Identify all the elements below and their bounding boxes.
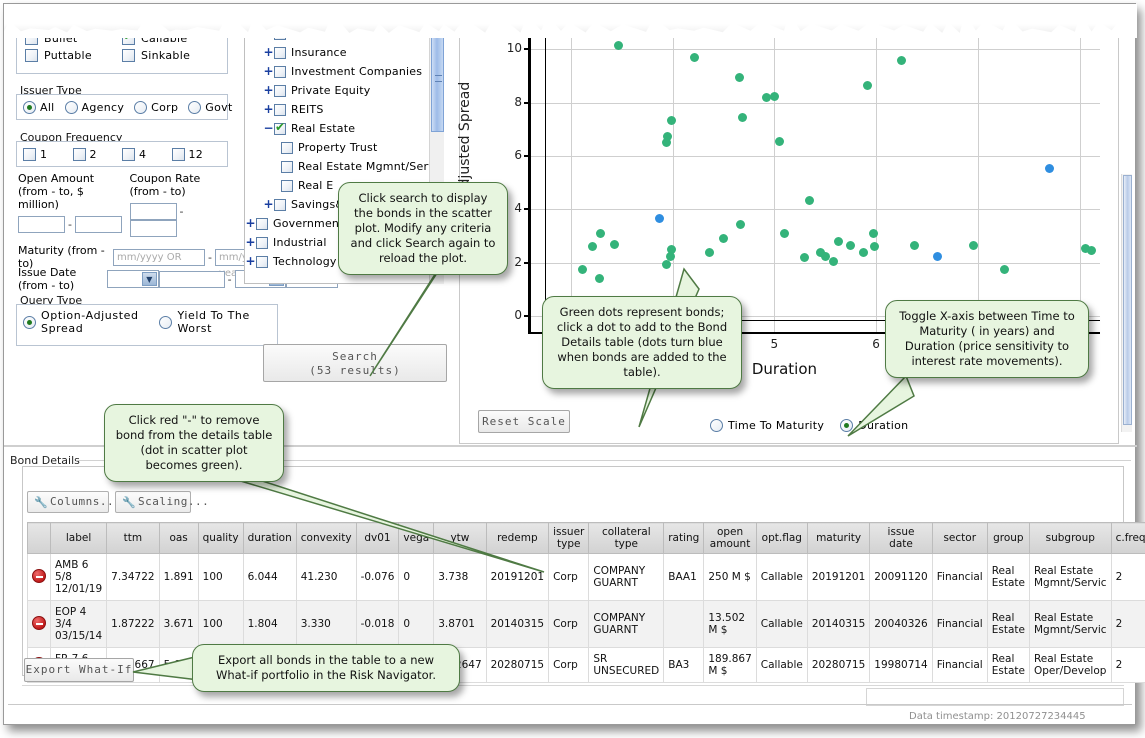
tree-scrollbar-thumb[interactable] [431, 32, 444, 132]
table-column-header[interactable]: issue date [870, 523, 932, 554]
table-cell-subgroup: Real Estate Oper/Develop [1029, 648, 1111, 683]
table-cell-subgroup: Real Estate Mgmnt/Servic [1029, 601, 1111, 648]
issue-date-dash: - [225, 273, 235, 286]
tree-checkbox[interactable] [274, 66, 286, 78]
scatter-point-selected[interactable] [655, 214, 664, 223]
scatter-point[interactable] [829, 257, 838, 266]
table-cell-rating: BAA1 [664, 554, 704, 601]
tree-node-insurance[interactable]: + Insurance [245, 43, 443, 62]
columns-button[interactable]: 🔧 Columns... [27, 491, 109, 513]
checkbox-box-freq-1[interactable] [23, 148, 36, 161]
radio-issuer-corp[interactable]: Corp [134, 101, 178, 114]
amount-rate-fields: Open Amount (from - to, $ million) - Cou… [18, 172, 230, 237]
tree-label: Investment Companies [291, 65, 422, 78]
checkbox-puttable[interactable]: Puttable [25, 49, 122, 62]
table-cell-label: EOP 4 3/4 03/15/14 [51, 601, 107, 648]
table-cell-issue-date: 20091120 [870, 554, 932, 601]
scatter-point[interactable] [897, 56, 906, 65]
scatter-point[interactable] [705, 248, 714, 257]
table-cell-subgroup: Real Estate Mgmnt/Servic [1029, 554, 1111, 601]
scatter-point-selected[interactable] [933, 252, 942, 261]
table-cell-rating: BA3 [664, 648, 704, 683]
query-type-radio-group: Option-Adjusted Spread Yield To The Wors… [16, 304, 278, 346]
checkbox-freq-2[interactable]: 2 [73, 148, 123, 161]
y-tick-mark [524, 208, 531, 210]
table-column-header[interactable]: group [987, 523, 1029, 554]
table-cell-redemp: 20140315 [486, 601, 548, 648]
coupon-rate-to-input[interactable] [130, 220, 177, 237]
table-cell-cfreq: 2 [1111, 601, 1145, 648]
coupon-rate-dash: - [177, 205, 187, 218]
scatter-point[interactable] [800, 253, 809, 262]
checkbox-callable[interactable]: Callable [122, 32, 219, 45]
table-column-header[interactable]: c.freq [1111, 523, 1145, 554]
tree-label: REITS [291, 103, 324, 116]
tree-checkbox-checked[interactable] [274, 123, 286, 135]
table-cell-maturity: 20191201 [807, 554, 869, 601]
scrollbar-grip-icon [435, 75, 442, 82]
table-column-header[interactable]: rating [664, 523, 704, 554]
y-tick-mark [524, 102, 531, 104]
radio-dot-oas[interactable] [23, 316, 36, 329]
table-cell-sector: Financial [932, 648, 987, 683]
table-cell-issuer-type: Corp [549, 601, 589, 648]
gridline-vertical [774, 12, 775, 332]
checkbox-box-freq-12[interactable] [172, 148, 185, 161]
gridline-vertical [978, 12, 979, 332]
open-amount-title-line2: (from - to, $ million) [18, 185, 126, 211]
table-column-header[interactable]: collateral type [589, 523, 664, 554]
tree-label: Government [273, 217, 344, 230]
table-cell-collateral-type: SR UNSECURED [589, 648, 664, 683]
y-tick-label: 8 [496, 95, 522, 109]
expander-icon[interactable]: + [245, 256, 256, 267]
scatter-point[interactable] [719, 234, 728, 243]
coupon-rate-from-input[interactable] [130, 203, 177, 220]
table-cell-redemp: 20280715 [486, 648, 548, 683]
x-tick-label: 5 [764, 337, 784, 351]
bottom-rule-2 [8, 704, 1132, 705]
table-cell-opt-flag: Callable [756, 554, 807, 601]
checkbox-label-bullet: Bullet [44, 32, 78, 45]
tree-label: Private Equity [291, 84, 370, 97]
maturity-dash: - [205, 251, 215, 264]
tree-checkbox[interactable] [281, 161, 293, 173]
scatter-point[interactable] [738, 113, 747, 122]
scatter-point[interactable] [735, 73, 744, 82]
radio-label-time-to-maturity: Time To Maturity [728, 419, 824, 432]
radio-dot-govt[interactable] [188, 101, 201, 114]
remove-bond-icon[interactable] [32, 616, 46, 630]
collapse-icon[interactable]: − [263, 123, 274, 134]
table-column-header[interactable]: label [51, 523, 107, 554]
checkbox-label-sinkable: Sinkable [141, 49, 190, 62]
table-column-header[interactable]: sector [932, 523, 987, 554]
checkbox-label-freq-2: 2 [90, 148, 97, 161]
radio-dot-time-to-maturity[interactable] [710, 419, 723, 432]
table-cell-vega: 0 [399, 601, 434, 648]
table-cell-ttm: 1.87222 [107, 601, 159, 648]
scatter-point[interactable] [690, 53, 699, 62]
open-amount-to-input[interactable] [75, 216, 122, 233]
checkbox-bullet[interactable]: Bullet [25, 32, 122, 45]
table-column-header[interactable]: opt.flag [756, 523, 807, 554]
tree-node-real-estate[interactable]: − Real Estate [245, 119, 443, 138]
wrench-icon: 🔧 [34, 497, 46, 509]
tree-node-reits[interactable]: + REITS [245, 100, 443, 119]
chevron-down-icon[interactable]: ▼ [142, 272, 157, 286]
tree-checkbox[interactable] [274, 47, 286, 59]
open-amount-from-input[interactable] [18, 216, 65, 233]
radio-label-oas: Option-Adjusted Spread [41, 309, 145, 335]
expander-icon[interactable]: + [263, 199, 274, 210]
scatter-point[interactable] [667, 116, 676, 125]
tree-label: Insurance [291, 46, 347, 59]
radio-dot-all[interactable] [23, 101, 36, 114]
expander-icon[interactable]: + [263, 47, 274, 58]
table-column-header[interactable]: maturity [807, 523, 869, 554]
issue-date-from-input[interactable] [159, 271, 225, 288]
issue-date-from-combo[interactable]: ▼ [107, 270, 159, 288]
callout-tail-toggle [844, 374, 944, 444]
radio-label-agency: Agency [82, 101, 125, 114]
checkbox-freq-4[interactable]: 4 [122, 148, 172, 161]
checkbox-sinkable[interactable]: Sinkable [122, 49, 219, 62]
export-what-if-button[interactable]: Export What-If [24, 658, 134, 682]
open-amount-dash: - [65, 218, 75, 231]
y-tick-mark [524, 48, 531, 50]
remove-bond-icon[interactable] [32, 569, 46, 583]
open-amount-title-line1: Open Amount [18, 172, 126, 185]
plot-scrollbar[interactable] [1121, 174, 1132, 432]
table-column-header[interactable] [28, 523, 51, 554]
scatter-point[interactable] [863, 81, 872, 90]
checkbox-box-sinkable[interactable] [122, 49, 135, 62]
y-tick-mark [524, 155, 531, 157]
checkbox-label-freq-4: 4 [139, 148, 146, 161]
callout-toggle-x: Toggle X-axis between Time to Maturity (… [885, 300, 1089, 378]
plot-scrollbar-thumb[interactable] [1123, 175, 1132, 425]
radio-label-govt: Govt [205, 101, 232, 114]
checkbox-label-freq-1: 1 [40, 148, 47, 161]
coupon-rate-title-line2: (from - to) [130, 185, 230, 198]
table-cell-collateral-type: COMPANY GUARNT [589, 601, 664, 648]
tree-checkbox[interactable] [256, 237, 268, 249]
expander-icon[interactable]: + [245, 237, 256, 248]
checkbox-box-bullet[interactable] [25, 32, 38, 45]
table-cell-open-amount: 13.502 M $ [704, 601, 756, 648]
tree-label: Real E [298, 179, 333, 192]
gridline-horizontal [530, 156, 1100, 157]
table-cell-duration: 1.804 [243, 601, 296, 648]
tree-label: Property Trust [298, 141, 377, 154]
tree-checkbox[interactable] [281, 180, 293, 192]
expander-icon[interactable]: + [263, 104, 274, 115]
tree-checkbox[interactable] [281, 142, 293, 154]
scatter-point[interactable] [1000, 265, 1009, 274]
scatter-point[interactable] [805, 196, 814, 205]
gridline-horizontal [530, 209, 1100, 210]
tree-checkbox[interactable] [274, 199, 286, 211]
checkbox-box-freq-2[interactable] [73, 148, 86, 161]
callout-search: Click search to display the bonds in the… [338, 182, 508, 275]
remove-bond-cell[interactable] [28, 601, 51, 648]
table-cell-ytw: 3.8701 [434, 601, 486, 648]
scatter-point[interactable] [780, 229, 789, 238]
callout-export: Export all bonds in the table to a new W… [192, 644, 460, 692]
tree-label: Diversified Finan Serv [291, 27, 415, 40]
table-cell-collateral-type: COMPANY GUARNT [589, 554, 664, 601]
radio-yield-to-worst[interactable]: Yield To The Worst [159, 309, 257, 335]
columns-button-label: Columns... [50, 495, 121, 508]
data-timestamp: Data timestamp: 20120727234445 [909, 711, 1086, 722]
y-tick-label: 10 [496, 41, 522, 55]
remove-bond-cell[interactable] [28, 554, 51, 601]
x-axis-label: Duration [734, 360, 834, 378]
search-criteria-panel: Bullet Callable Puttable Sinkable Issuer… [16, 22, 238, 382]
checkbox-freq-12[interactable]: 12 [172, 148, 222, 161]
tree-node-property-trust[interactable]: Property Trust [245, 138, 443, 157]
table-cell-opt-flag: Callable [756, 601, 807, 648]
scatter-point[interactable] [846, 241, 855, 250]
radio-dot-agency[interactable] [65, 101, 78, 114]
tree-label: Real Estate [291, 122, 355, 135]
radio-option-adjusted-spread[interactable]: Option-Adjusted Spread [23, 309, 145, 335]
scatter-point[interactable] [869, 229, 878, 238]
tree-checkbox[interactable] [274, 104, 286, 116]
radio-time-to-maturity[interactable]: Time To Maturity [710, 419, 824, 432]
table-cell-rating [664, 601, 704, 648]
scatter-point[interactable] [736, 220, 745, 229]
radio-label-corp: Corp [151, 101, 178, 114]
coupon-rate-title-line1: Coupon Rate [130, 172, 230, 185]
expander-icon[interactable]: + [263, 85, 274, 96]
table-cell-opt-flag: Callable [756, 648, 807, 683]
tree-node-private-equity[interactable]: + Private Equity [245, 81, 443, 100]
table-cell-open-amount: 189.867 M $ [704, 648, 756, 683]
table-row[interactable]: EOP 4 3/4 03/15/141.872223.6711001.8043.… [28, 601, 1145, 648]
tree-node-investment-companies[interactable]: + Investment Companies [245, 62, 443, 81]
table-column-header[interactable]: open amount [704, 523, 756, 554]
scatter-point-selected[interactable] [1045, 164, 1054, 173]
table-cell-group: Real Estate [987, 648, 1029, 683]
table-column-header[interactable]: subgroup [1029, 523, 1111, 554]
issuer-type-radio-group: All Agency Corp Govt [16, 94, 228, 120]
expander-icon[interactable]: + [263, 28, 274, 39]
checkbox-box-callable[interactable] [122, 32, 135, 45]
radio-label-ytw: Yield To The Worst [177, 309, 257, 335]
maturity-from-input[interactable]: mm/yyyy OR year [113, 249, 205, 266]
scatter-point[interactable] [662, 138, 671, 147]
y-tick-label: 6 [496, 148, 522, 162]
table-cell-sector: Financial [932, 554, 987, 601]
table-cell-maturity: 20280715 [807, 648, 869, 683]
table-cell-group: Real Estate [987, 554, 1029, 601]
gridline-vertical [876, 12, 877, 332]
scatter-point[interactable] [870, 242, 879, 251]
callout-green-dots: Green dots represent bonds; click a dot … [542, 296, 742, 389]
tree-checkbox[interactable] [256, 218, 268, 230]
table-cell-issue-date: 20040326 [870, 601, 932, 648]
checkbox-freq-1[interactable]: 1 [23, 148, 73, 161]
application-window: Bullet Callable Puttable Sinkable Issuer… [3, 3, 1136, 725]
radio-dot-ytw[interactable] [159, 316, 172, 329]
scatter-point[interactable] [610, 240, 619, 249]
tree-label: Savings& [291, 198, 344, 211]
checkbox-label-freq-12: 12 [189, 148, 204, 161]
tree-checkbox[interactable] [256, 256, 268, 268]
radio-dot-corp[interactable] [134, 101, 147, 114]
checkbox-label-callable: Callable [141, 32, 187, 45]
checkbox-label-puttable: Puttable [44, 49, 92, 62]
table-cell-cfreq: 2 [1111, 648, 1145, 683]
table-cell-cfreq: 2 [1111, 554, 1145, 601]
scatter-point[interactable] [1087, 246, 1096, 255]
y-tick-label: 0 [496, 308, 522, 322]
checkbox-box-freq-4[interactable] [122, 148, 135, 161]
table-cell-sector: Financial [932, 601, 987, 648]
radio-issuer-govt[interactable]: Govt [188, 101, 232, 114]
table-cell-maturity: 20140315 [807, 601, 869, 648]
scatter-point[interactable] [859, 248, 868, 257]
scatter-point[interactable] [834, 237, 843, 246]
table-cell-dv01: -0.018 [356, 601, 399, 648]
tree-label: Real Estate Mgmnt/Servic [298, 160, 444, 173]
radio-issuer-all[interactable]: All [23, 101, 55, 114]
expander-icon[interactable]: + [263, 66, 274, 77]
scatter-point[interactable] [588, 242, 597, 251]
tree-node-real-estate-mgmnt[interactable]: Real Estate Mgmnt/Servic [245, 157, 443, 176]
x-tick-label: 6 [866, 337, 886, 351]
issue-date-label: Issue Date (from - to) [18, 266, 107, 292]
tree-checkbox[interactable] [274, 28, 286, 40]
table-cell-issue-date: 19980714 [870, 648, 932, 683]
coupon-frequency-checkbox-group: 1 2 4 12 [16, 141, 228, 167]
scatter-point[interactable] [910, 241, 919, 250]
callout-remove-bond: Click red "-" to remove bond from the de… [104, 404, 284, 482]
checkbox-box-puttable[interactable] [25, 49, 38, 62]
table-cell-label: AMB 6 5/8 12/01/19 [51, 554, 107, 601]
tree-label: Industrial [273, 236, 327, 249]
tree-node-diversified-finan-serv[interactable]: + Diversified Finan Serv [245, 24, 443, 43]
scatter-point[interactable] [775, 137, 784, 146]
table-cell-oas: 3.671 [159, 601, 198, 648]
bond-type-checkbox-group: Bullet Callable Puttable Sinkable [16, 22, 228, 74]
table-cell-open-amount: 250 M $ [704, 554, 756, 601]
radio-issuer-agency[interactable]: Agency [65, 101, 125, 114]
scatter-point[interactable] [596, 229, 605, 238]
table-cell-convexity: 3.330 [296, 601, 356, 648]
tree-label: Technology [273, 255, 337, 268]
gridline-horizontal [530, 103, 1100, 104]
radio-label-all: All [40, 101, 55, 114]
scatter-point[interactable] [614, 41, 623, 50]
tree-checkbox[interactable] [274, 85, 286, 97]
table-cell-group: Real Estate [987, 601, 1029, 648]
expander-icon[interactable]: + [245, 218, 256, 229]
gridline-vertical [1080, 12, 1081, 332]
table-cell-issuer-type: Corp [549, 648, 589, 683]
scatter-point[interactable] [770, 92, 779, 101]
table-cell-quality: 100 [198, 601, 243, 648]
